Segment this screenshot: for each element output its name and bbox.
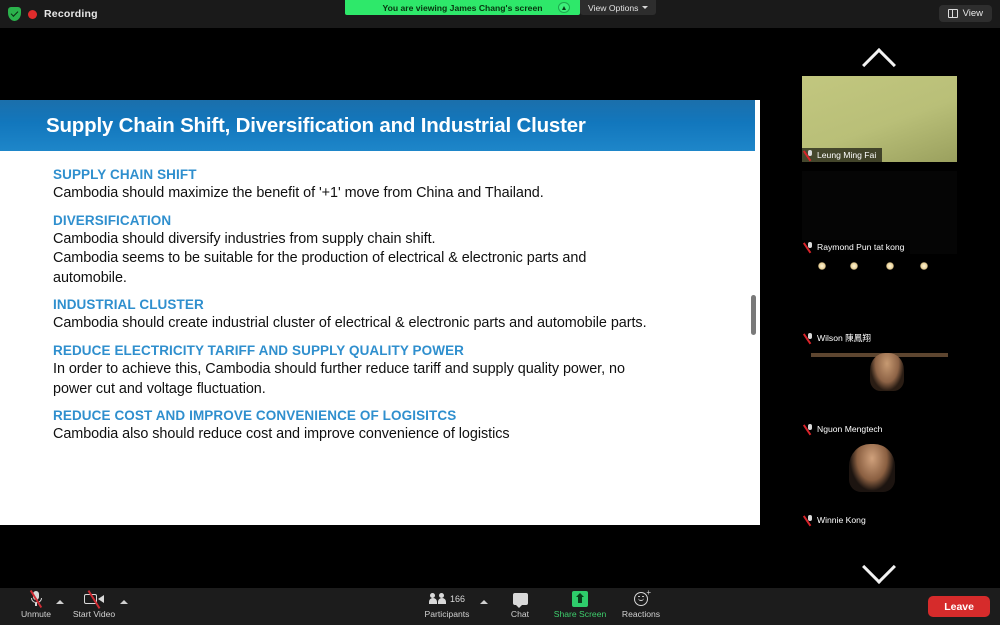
leave-meeting-button[interactable]: Leave — [928, 596, 990, 617]
participant-tile[interactable]: Winnie Kong — [802, 441, 957, 527]
slide-title: Supply Chain Shift, Diversification and … — [46, 114, 586, 138]
participant-name: Winnie Kong — [817, 515, 866, 525]
view-options-dropdown[interactable]: View Options — [580, 0, 656, 15]
video-camera-off-icon — [84, 590, 104, 607]
slide-title-bar: Supply Chain Shift, Diversification and … — [0, 100, 755, 151]
slide-section-heading: REDUCE ELECTRICITY TARIFF AND SUPPLY QUA… — [53, 343, 755, 358]
participant-name: Raymond Pun tat kong — [817, 242, 904, 252]
slide-section-line: In order to achieve this, Cambodia shoul… — [53, 360, 755, 380]
slide-section-line: automobile. — [53, 269, 755, 289]
decor-shape — [850, 262, 858, 270]
reactions-label: Reactions — [622, 609, 660, 619]
meeting-controls-toolbar: Unmute Start Video 166 Participants Chat… — [0, 588, 1000, 625]
participant-name: Nguon Mengtech — [817, 424, 882, 434]
share-screen-icon — [572, 590, 588, 607]
unmute-label: Unmute — [21, 609, 51, 619]
mic-muted-icon — [806, 242, 813, 252]
participant-filmstrip: Leung Ming Fai Raymond Pun tat kong Wils… — [795, 28, 965, 588]
slide-section-heading: SUPPLY CHAIN SHIFT — [53, 167, 755, 182]
chat-button[interactable]: Chat — [487, 590, 553, 619]
zoom-meeting-window: Recording You are viewing James Chang's … — [0, 0, 1000, 625]
view-options-label: View Options — [588, 3, 638, 13]
participant-name-tag: Winnie Kong — [802, 513, 872, 527]
view-button-label: View — [963, 8, 983, 19]
share-screen-label: Share Screen — [554, 609, 607, 619]
slide-section-heading: INDUSTRIAL CLUSTER — [53, 297, 755, 312]
mic-muted-icon — [806, 515, 813, 525]
slide-section: SUPPLY CHAIN SHIFT Cambodia should maxim… — [53, 167, 755, 204]
shield-check-icon[interactable] — [8, 7, 21, 21]
decor-shape — [870, 353, 904, 391]
chevron-down-icon[interactable] — [857, 553, 901, 579]
start-video-label: Start Video — [73, 609, 115, 619]
screen-share-banner: You are viewing James Chang's screen — [345, 0, 580, 15]
people-icon: 166 — [429, 590, 465, 607]
unmute-button[interactable]: Unmute — [3, 590, 69, 619]
slide-section-line: power cut and voltage fluctuation. — [53, 380, 755, 400]
chat-label: Chat — [511, 609, 529, 619]
mic-muted-icon — [806, 424, 813, 434]
slide-section: DIVERSIFICATION Cambodia should diversif… — [53, 213, 755, 289]
participants-count: 166 — [450, 594, 465, 604]
participant-name-tag: Wilson 陳鳳翔 — [802, 331, 877, 345]
participant-name-tag: Raymond Pun tat kong — [802, 240, 910, 254]
smiley-reaction-icon: + — [634, 590, 648, 607]
screen-share-banner-text: You are viewing James Chang's screen — [383, 3, 543, 13]
microphone-muted-icon — [30, 590, 43, 607]
shared-screen-content[interactable]: Supply Chain Shift, Diversification and … — [0, 100, 760, 525]
layout-grid-icon — [948, 9, 958, 18]
slide-section-line: Cambodia seems to be suitable for the pr… — [53, 249, 755, 269]
slide-section: REDUCE ELECTRICITY TARIFF AND SUPPLY QUA… — [53, 343, 755, 399]
participant-tile[interactable]: Leung Ming Fai — [802, 76, 957, 162]
decor-shape — [920, 262, 928, 270]
video-options-caret-icon[interactable] — [120, 600, 128, 604]
participant-tile[interactable]: Nguon Mengtech — [802, 350, 957, 436]
slide-section: INDUSTRIAL CLUSTER Cambodia should creat… — [53, 297, 755, 334]
recording-indicator: Recording — [8, 7, 98, 21]
participant-name-tag: Leung Ming Fai — [802, 148, 882, 162]
participants-label: Participants — [425, 609, 470, 619]
decor-shape — [886, 262, 894, 270]
participants-button[interactable]: 166 Participants — [414, 590, 480, 619]
decor-shape — [818, 262, 826, 270]
decor-shape — [849, 444, 895, 492]
participant-name: Leung Ming Fai — [817, 150, 876, 160]
slide-section: REDUCE COST AND IMPROVE CONVENIENCE OF L… — [53, 408, 755, 445]
start-video-button[interactable]: Start Video — [61, 590, 127, 619]
slide-section-heading: REDUCE COST AND IMPROVE CONVENIENCE OF L… — [53, 408, 755, 423]
record-dot-icon — [28, 10, 37, 19]
speech-bubble-icon — [513, 590, 528, 607]
share-upload-icon — [558, 2, 570, 13]
meeting-top-bar: Recording You are viewing James Chang's … — [0, 0, 1000, 28]
slide-body: SUPPLY CHAIN SHIFT Cambodia should maxim… — [0, 151, 755, 445]
chevron-up-icon[interactable] — [857, 45, 901, 71]
view-layout-button[interactable]: View — [939, 5, 992, 22]
chevron-down-icon — [642, 6, 648, 9]
slide-section-line: Cambodia should maximize the benefit of … — [53, 184, 755, 204]
slide-section-heading: DIVERSIFICATION — [53, 213, 755, 228]
participant-name: Wilson 陳鳳翔 — [817, 332, 871, 344]
participant-name-tag: Nguon Mengtech — [802, 422, 888, 436]
share-screen-button[interactable]: Share Screen — [547, 590, 613, 619]
slide-section-line: Cambodia should diversify industries fro… — [53, 230, 755, 250]
slide-section-line: Cambodia should create industrial cluste… — [53, 314, 755, 334]
slide-section-line: Cambodia also should reduce cost and imp… — [53, 425, 755, 445]
leave-label: Leave — [944, 601, 974, 613]
shared-content-scrollbar[interactable] — [751, 295, 756, 335]
recording-label: Recording — [44, 8, 98, 20]
reactions-button[interactable]: + Reactions — [608, 590, 674, 619]
participant-tile[interactable]: Wilson 陳鳳翔 — [802, 259, 957, 345]
mic-muted-icon — [806, 333, 813, 343]
mic-muted-icon — [806, 150, 813, 160]
participant-tile[interactable]: Raymond Pun tat kong — [802, 168, 957, 254]
